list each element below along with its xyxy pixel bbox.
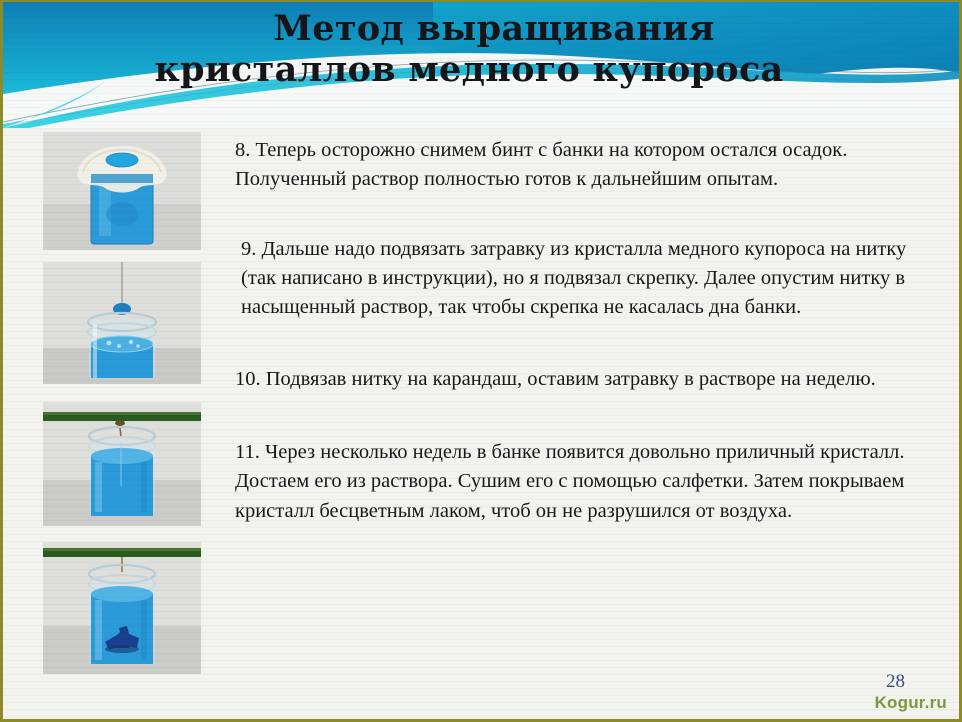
- photo-jar-with-pencil: [43, 402, 201, 526]
- step-paragraph-9: 9. Дальше надо подвязать затравку из кри…: [241, 235, 913, 323]
- slide-header-banner: [3, 2, 962, 128]
- step-paragraph-11: 11. Через несколько недель в банке появи…: [235, 438, 925, 526]
- presentation-slide: Метод выращивания кристаллов медного куп…: [0, 0, 962, 722]
- photo-column: [3, 128, 223, 698]
- step-paragraph-10: 10. Подвязав нитку на карандаш, оставим …: [235, 365, 895, 394]
- step-paragraph-8: 8. Теперь осторожно снимем бинт с банки …: [235, 136, 895, 195]
- header-wave-graphic: [3, 2, 962, 128]
- photo-jar-covered-with-gauze: [43, 132, 201, 250]
- slide-body-content: 8. Теперь осторожно снимем бинт с банки …: [231, 136, 931, 526]
- watermark-kogur-ru: Kogur.ru: [875, 693, 947, 713]
- photo-jar-with-grown-crystal: [43, 542, 201, 674]
- photo-jar-with-seed-crystal: [43, 262, 201, 384]
- page-number: 28: [886, 671, 905, 693]
